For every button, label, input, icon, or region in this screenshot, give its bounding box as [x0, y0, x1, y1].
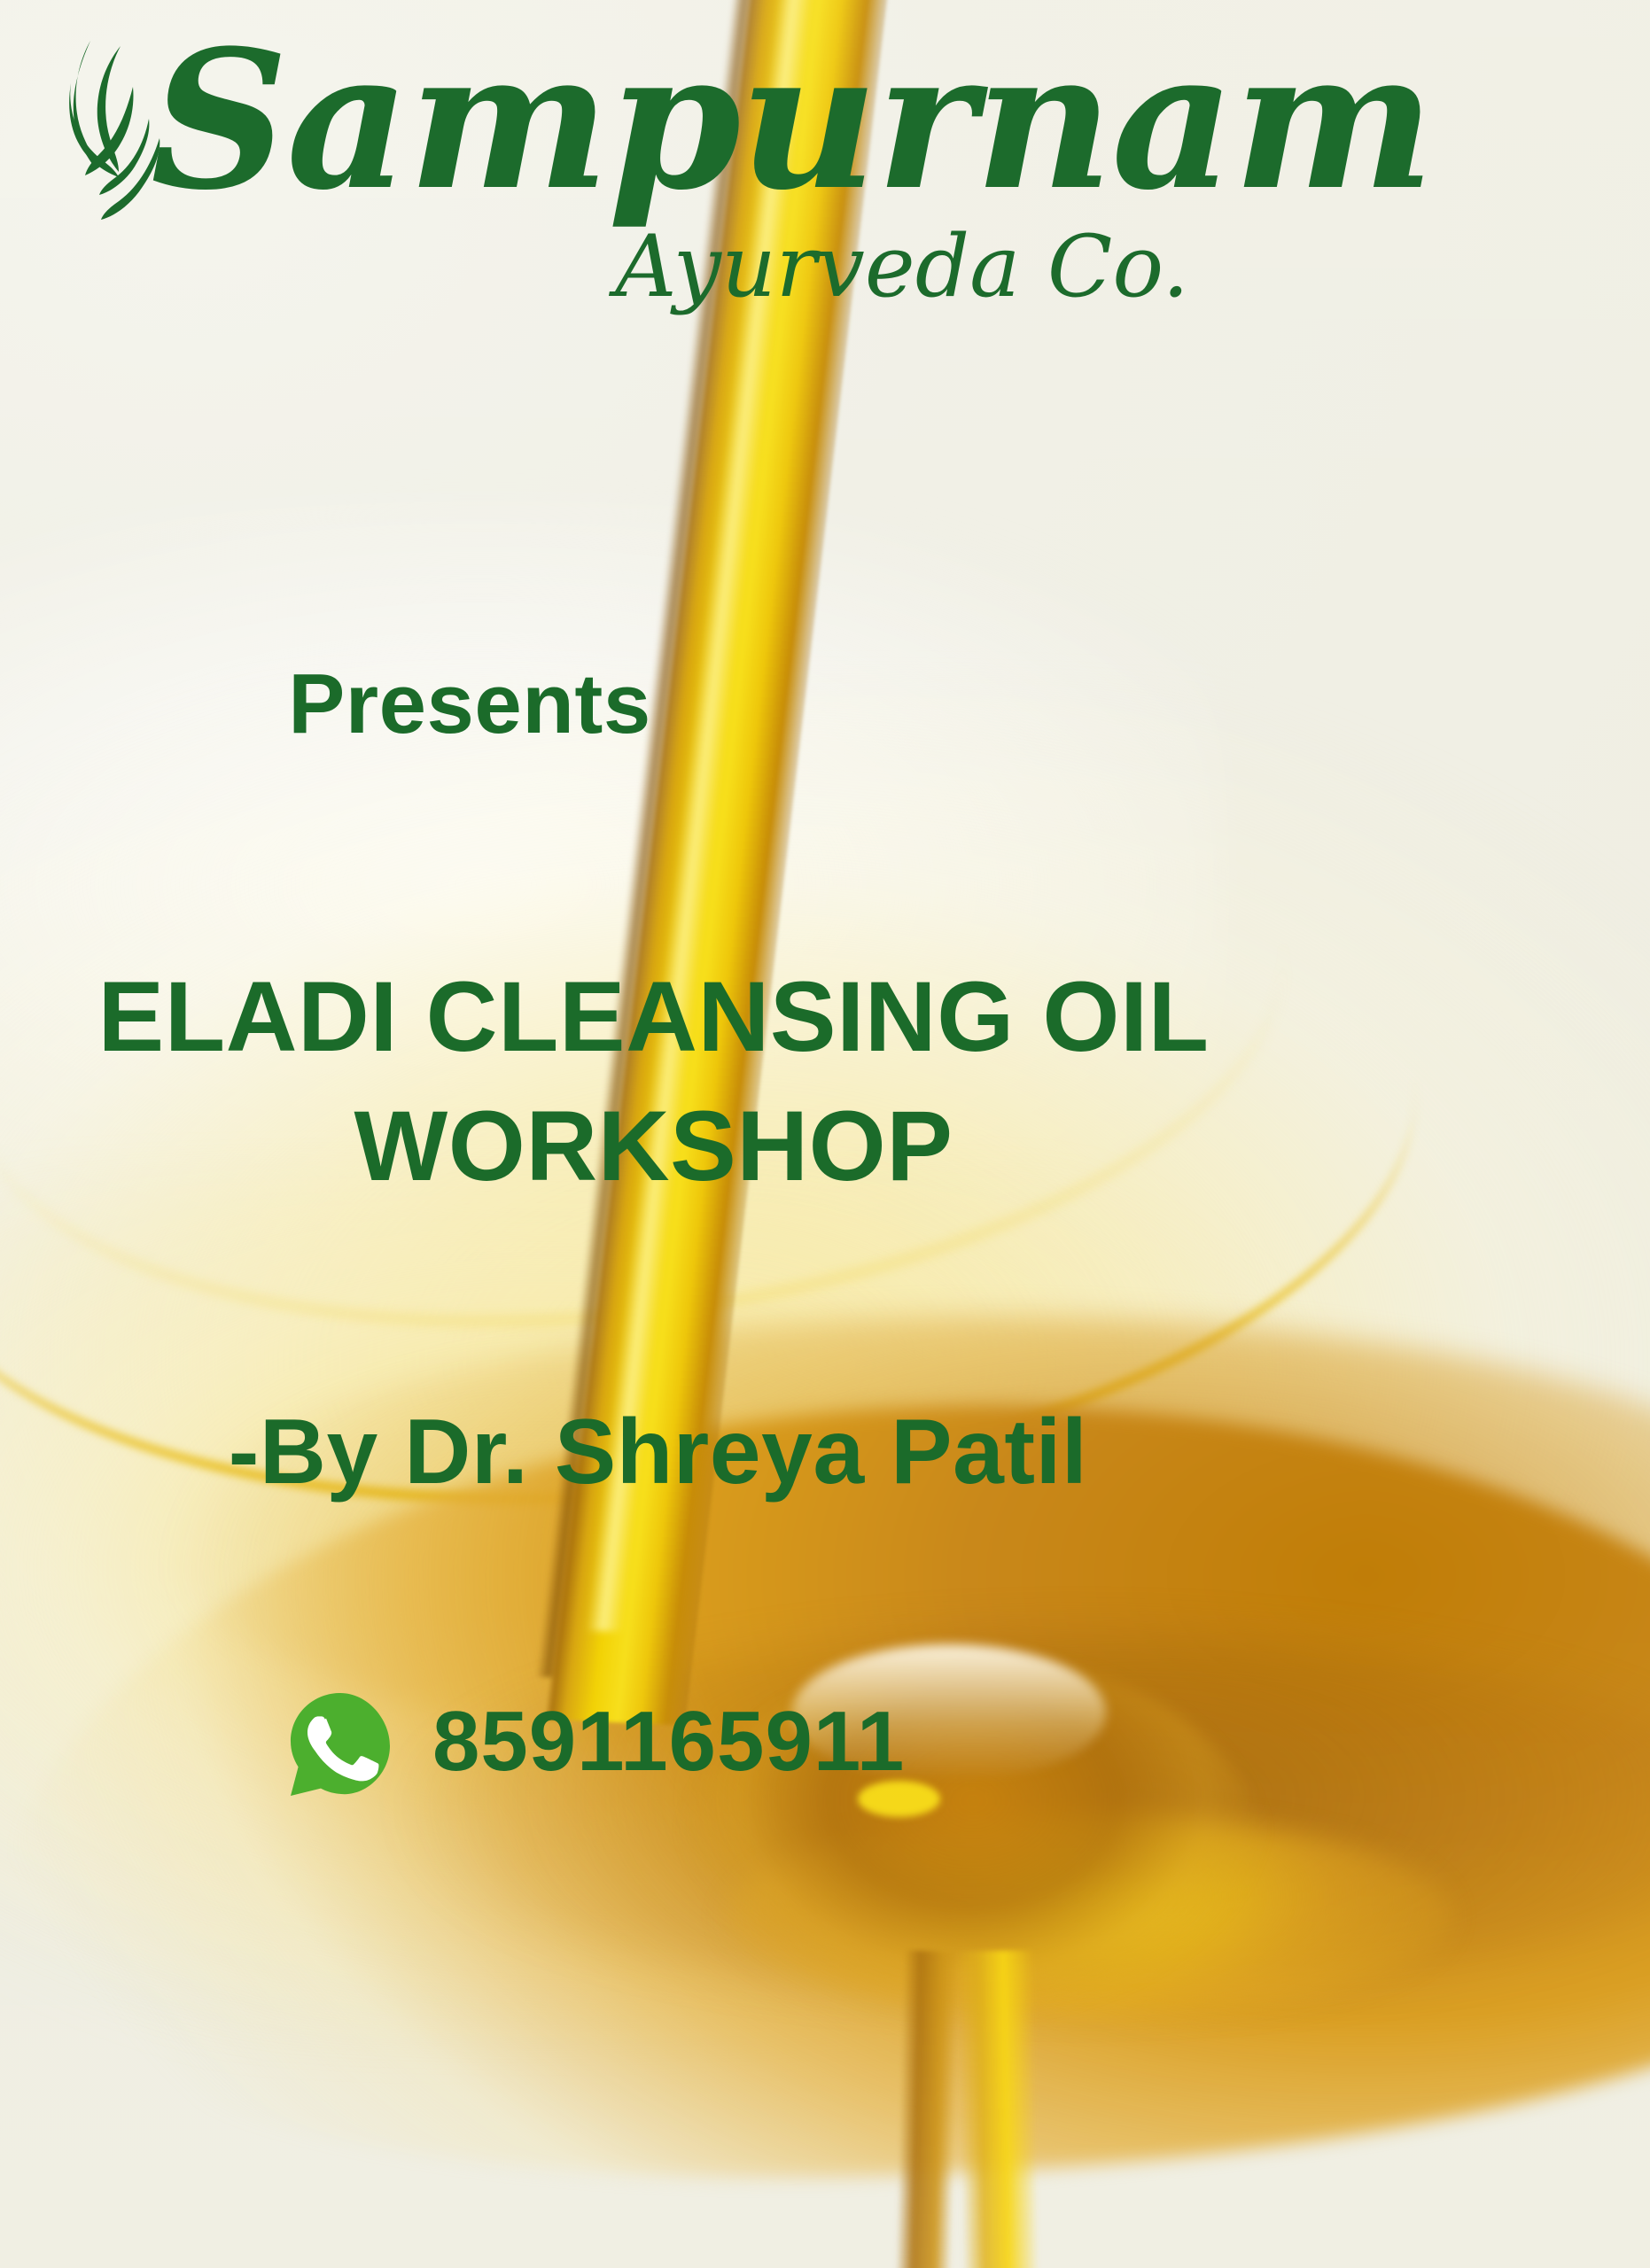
presents-label: Presents — [0, 656, 939, 753]
poster-content: Sampurnam Ayurveda Co. Presents ELADI CL… — [0, 0, 1650, 2268]
presenter-byline: -By Dr. Shreya Patil — [0, 1400, 1316, 1505]
whatsapp-phone-number[interactable]: 8591165911 — [432, 1699, 905, 1790]
brand-logo: Sampurnam Ayurveda Co. — [35, 25, 1205, 309]
whatsapp-icon[interactable] — [284, 1688, 397, 1801]
headline-line-1: ELADI CLEANSING OIL — [0, 952, 1307, 1082]
leaf-flourish-icon — [44, 34, 195, 237]
logo-subtitle: Ayurveda Co. — [35, 224, 1205, 309]
workshop-poster: Sampurnam Ayurveda Co. Presents ELADI CL… — [0, 0, 1650, 2268]
logo-wordmark-text: Sampurnam — [151, 8, 1433, 232]
headline: ELADI CLEANSING OIL WORKSHOP — [0, 952, 1307, 1210]
contact-row[interactable]: 8591165911 — [284, 1688, 905, 1801]
logo-wordmark-container: Sampurnam — [35, 25, 1205, 215]
headline-line-2: WORKSHOP — [0, 1082, 1307, 1211]
